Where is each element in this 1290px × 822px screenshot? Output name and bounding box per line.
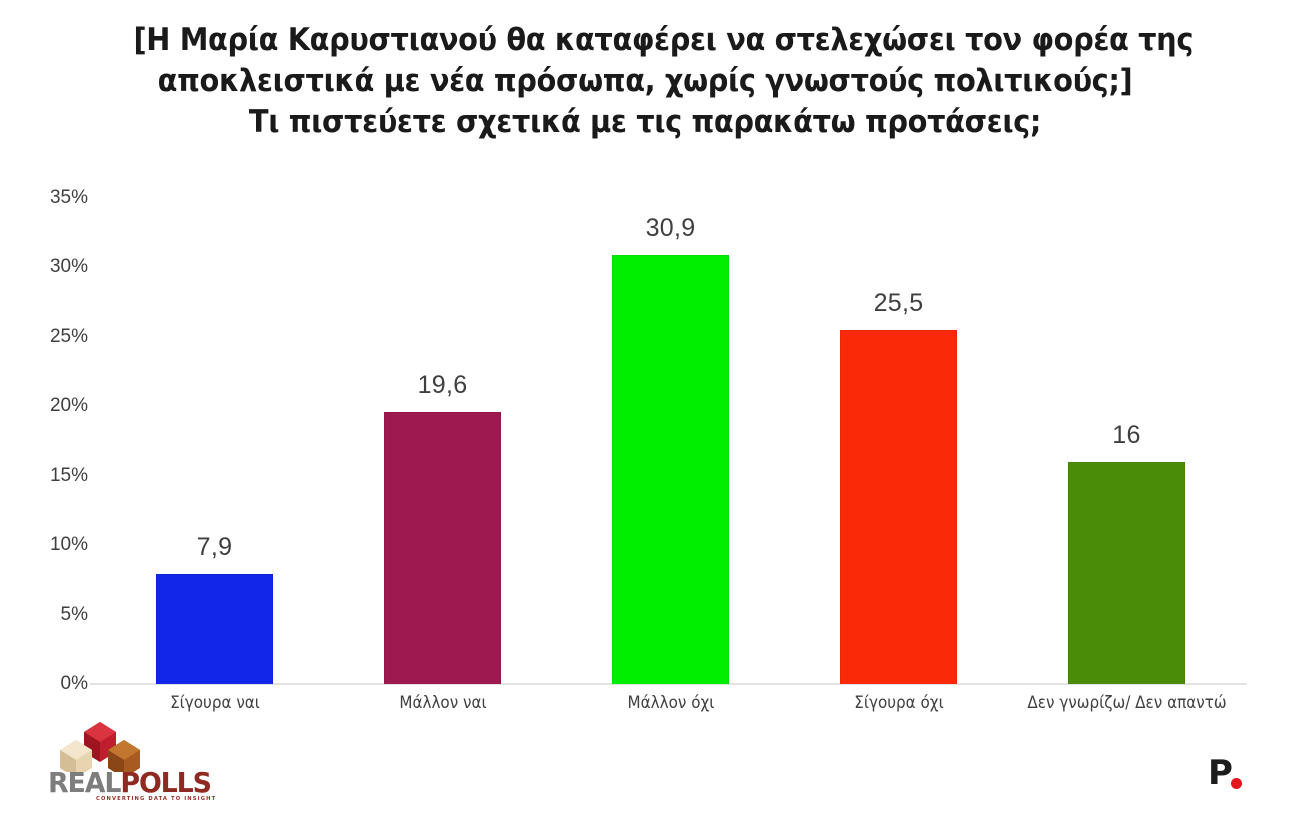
realpolls-tagline: CONVERTING DATA TO INSIGHT xyxy=(96,796,216,802)
corner-p-logo: P xyxy=(1208,762,1260,796)
bar[interactable] xyxy=(156,574,273,684)
bar[interactable] xyxy=(612,255,729,684)
y-axis-tick-label: 0% xyxy=(28,673,88,695)
realpolls-logo: REALPOLLS CONVERTING DATA TO INSIGHT xyxy=(48,716,198,798)
bar-value-label: 16 xyxy=(1047,421,1207,450)
x-axis-category-label: Μάλλον ναι xyxy=(332,693,553,712)
bar-value-label: 25,5 xyxy=(819,289,979,318)
realpolls-wordmark-real: REAL xyxy=(48,766,120,799)
bar[interactable] xyxy=(1068,462,1185,684)
bar[interactable] xyxy=(384,412,501,684)
x-axis-category-label: Μάλλον όχι xyxy=(560,693,781,712)
y-axis-tick-label: 10% xyxy=(28,534,88,556)
x-axis-category-label: Σίγουρα όχι xyxy=(788,693,1009,712)
bar-chart-plot-area: 7,9Σίγουρα ναι19,6Μάλλον ναι30,9Μάλλον ό… xyxy=(0,0,1290,822)
x-axis-category-label: Δεν γνωρίζω/ Δεν απαντώ xyxy=(1016,693,1237,712)
bar[interactable] xyxy=(840,330,957,684)
x-axis-category-label: Σίγουρα ναι xyxy=(104,693,325,712)
y-axis-tick-label: 25% xyxy=(28,326,88,348)
realpolls-wordmark-polls: POLLS xyxy=(120,766,210,799)
bar-value-label: 7,9 xyxy=(135,533,295,562)
corner-p-dot-icon xyxy=(1231,778,1242,789)
y-axis-tick-label: 15% xyxy=(28,465,88,487)
y-axis-tick-label: 20% xyxy=(28,395,88,417)
y-axis-tick-label: 5% xyxy=(28,604,88,626)
bar-value-label: 19,6 xyxy=(363,371,523,400)
realpolls-cube-icon xyxy=(48,716,198,772)
bar-value-label: 30,9 xyxy=(591,214,751,243)
y-axis-tick-label: 30% xyxy=(28,256,88,278)
y-axis-tick-label: 35% xyxy=(28,187,88,209)
realpolls-wordmark: REALPOLLS xyxy=(48,768,211,798)
corner-p-letter: P xyxy=(1208,756,1233,790)
